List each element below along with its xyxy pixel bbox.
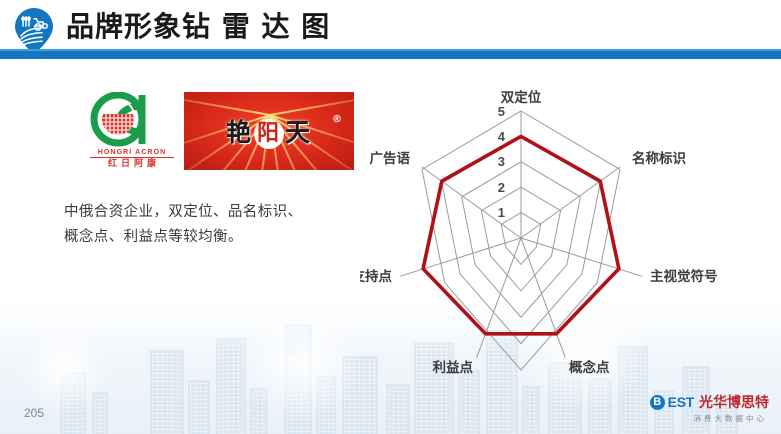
radar-axis-label-guanggaoyu: 广告语 bbox=[370, 150, 411, 167]
acron-latin-name: HONGRI ACRON bbox=[88, 149, 176, 156]
radar-axes bbox=[400, 111, 642, 358]
best-chinese-name: 光华博思特 bbox=[699, 392, 769, 412]
yanyangtian-logo: 艳阳天 ® bbox=[184, 92, 354, 170]
radar-axis-label-gainiandian: 概念点 bbox=[569, 359, 610, 376]
radar-svg: 1 2 3 4 5 双定位 名称标识 主视觉符号 概念点 利益点 支持点 广告语 bbox=[360, 80, 720, 380]
radar-tick-label-4: 4 bbox=[498, 129, 506, 144]
radar-axis-label-shuangdingwei: 双定位 bbox=[501, 89, 542, 106]
radar-tick-label-5: 5 bbox=[498, 104, 505, 119]
best-subtitle: 消费大数据中心 bbox=[650, 413, 767, 424]
header-divider-bar bbox=[0, 51, 781, 59]
best-latin-name: EST bbox=[668, 394, 694, 410]
acron-char-1: 红 bbox=[108, 159, 117, 169]
best-circle-icon: B bbox=[650, 395, 665, 410]
yyt-char-yang: 阳 bbox=[254, 119, 284, 149]
radar-axis-label-zhushijuefuhao: 主视觉符号 bbox=[650, 268, 718, 285]
slide-root: 品牌形象钻 雷 达 图 bbox=[0, 0, 781, 434]
acron-char-4: 康 bbox=[147, 159, 156, 169]
yyt-char-tian: 天 bbox=[285, 118, 312, 147]
registered-trademark-icon: ® bbox=[332, 114, 342, 125]
description-text: 中俄合资企业，双定位、品名标识、概念点、利益点等较均衡。 bbox=[64, 200, 304, 250]
radar-tick-label-3: 3 bbox=[498, 154, 505, 169]
page-number: 205 bbox=[24, 406, 44, 420]
radar-tick-label-1: 1 bbox=[498, 205, 505, 220]
yanyangtian-wordmark: 艳阳天 bbox=[184, 113, 354, 149]
acron-char-2: 日 bbox=[121, 159, 130, 169]
acron-logo-mark bbox=[88, 92, 168, 147]
radar-axis-label-zhichidian: 支持点 bbox=[360, 268, 392, 285]
radar-axis-label-liyidian: 利益点 bbox=[433, 359, 474, 376]
acron-char-3: 阿 bbox=[134, 159, 143, 169]
radar-tick-label-2: 2 bbox=[498, 180, 505, 195]
acron-chinese-name: 红 日 阿 康 bbox=[88, 159, 176, 169]
acron-rule bbox=[90, 157, 174, 158]
company-logo-footer: B EST 光华博思特 消费大数据中心 bbox=[650, 392, 769, 424]
radar-axis-label-mingchengbiaozhi: 名称标识 bbox=[632, 150, 686, 167]
page-title: 品牌形象钻 雷 达 图 bbox=[66, 8, 330, 46]
brand-image-radar-chart: 1 2 3 4 5 双定位 名称标识 主视觉符号 概念点 利益点 支持点 广告语 bbox=[360, 80, 720, 380]
hongri-acron-logo: HONGRI ACRON 红 日 阿 康 bbox=[88, 92, 176, 170]
brand-logos: HONGRI ACRON 红 日 阿 康 艳阳天 bbox=[88, 92, 354, 170]
slide-header: 品牌形象钻 雷 达 图 bbox=[0, 0, 781, 62]
yyt-char-yan: 艳 bbox=[226, 118, 253, 147]
